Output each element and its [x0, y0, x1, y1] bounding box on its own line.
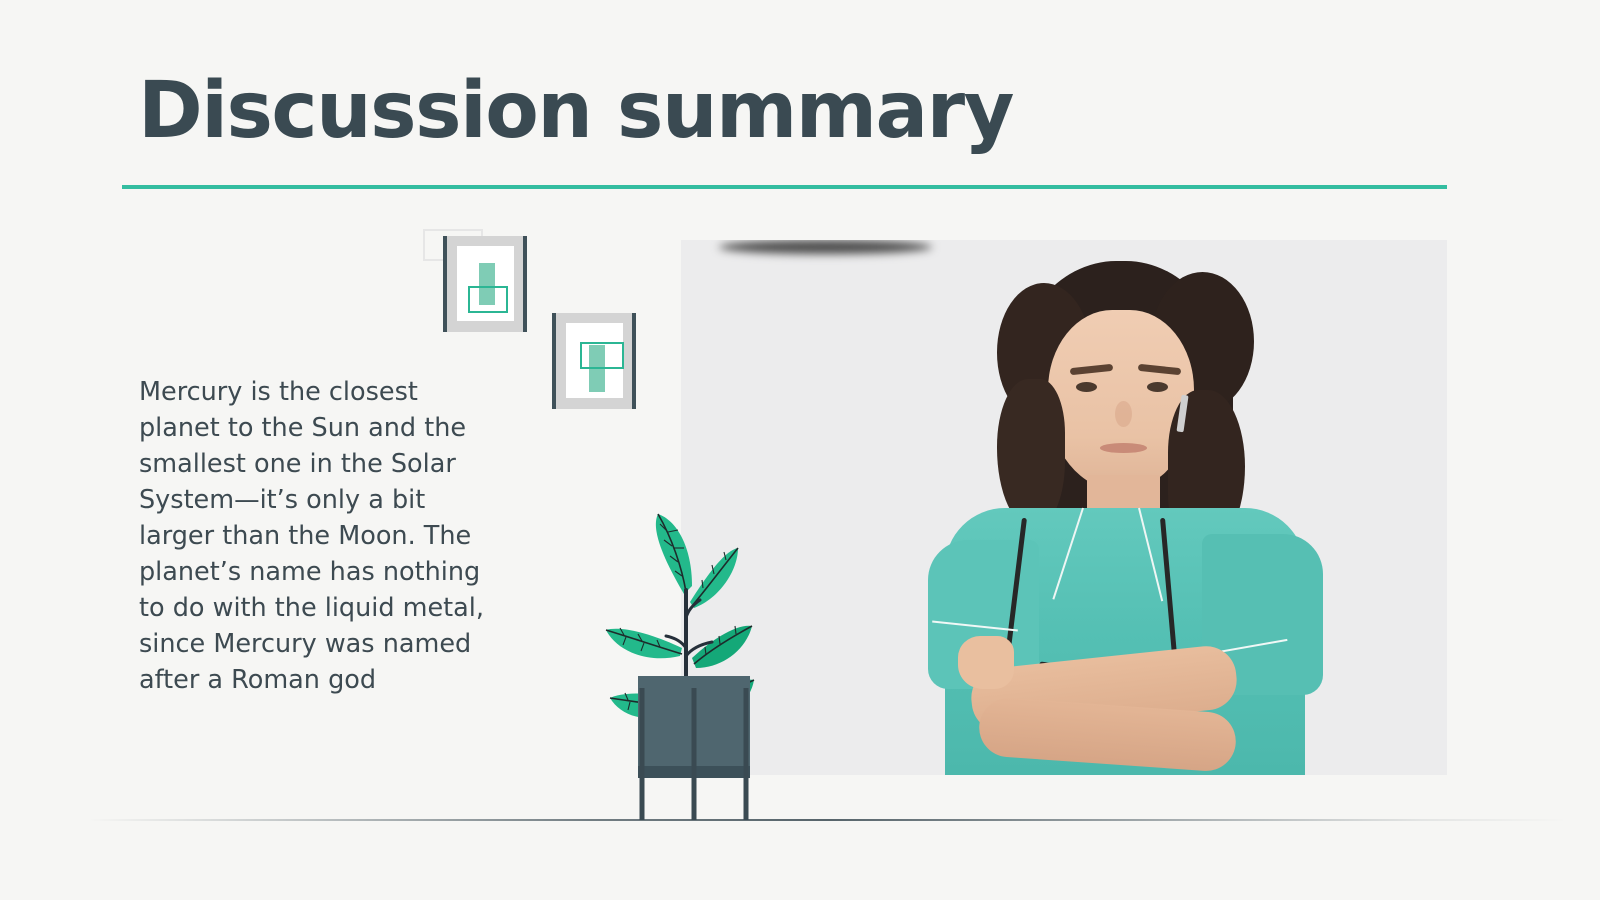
nurse-mouth: [1100, 443, 1147, 453]
potted-plant-illustration: [596, 498, 756, 823]
frame-one-left-bar: [443, 236, 447, 332]
slide: Discussion summary Mercury is the closes…: [0, 0, 1600, 900]
picture-frame-one: [443, 236, 527, 332]
wheelchair-wheel: [719, 240, 932, 254]
ground-line: [88, 819, 1568, 821]
frame-one-right-bar: [523, 236, 527, 332]
leaf: [692, 626, 752, 668]
frame-two-right-bar: [632, 313, 636, 409]
nurse-eye-right: [1147, 382, 1168, 392]
nurse-figure: [911, 240, 1340, 775]
nurse-hair-curl: [997, 379, 1066, 529]
nurse-with-elderly-patient-photo: [681, 240, 1447, 775]
frame-one-outline-shape: [468, 286, 508, 313]
nurse-eye-left: [1076, 382, 1097, 392]
photo-content: [681, 240, 1447, 775]
frame-two-outline-shape: [580, 342, 624, 369]
nurse-hand: [958, 636, 1014, 690]
title-underline-rule: [122, 185, 1447, 189]
body-paragraph: Mercury is the closest planet to the Sun…: [139, 374, 491, 698]
frame-two-left-bar: [552, 313, 556, 409]
nurse-nose: [1115, 401, 1132, 428]
page-title: Discussion summary: [138, 72, 1013, 150]
picture-frame-two: [552, 313, 636, 409]
